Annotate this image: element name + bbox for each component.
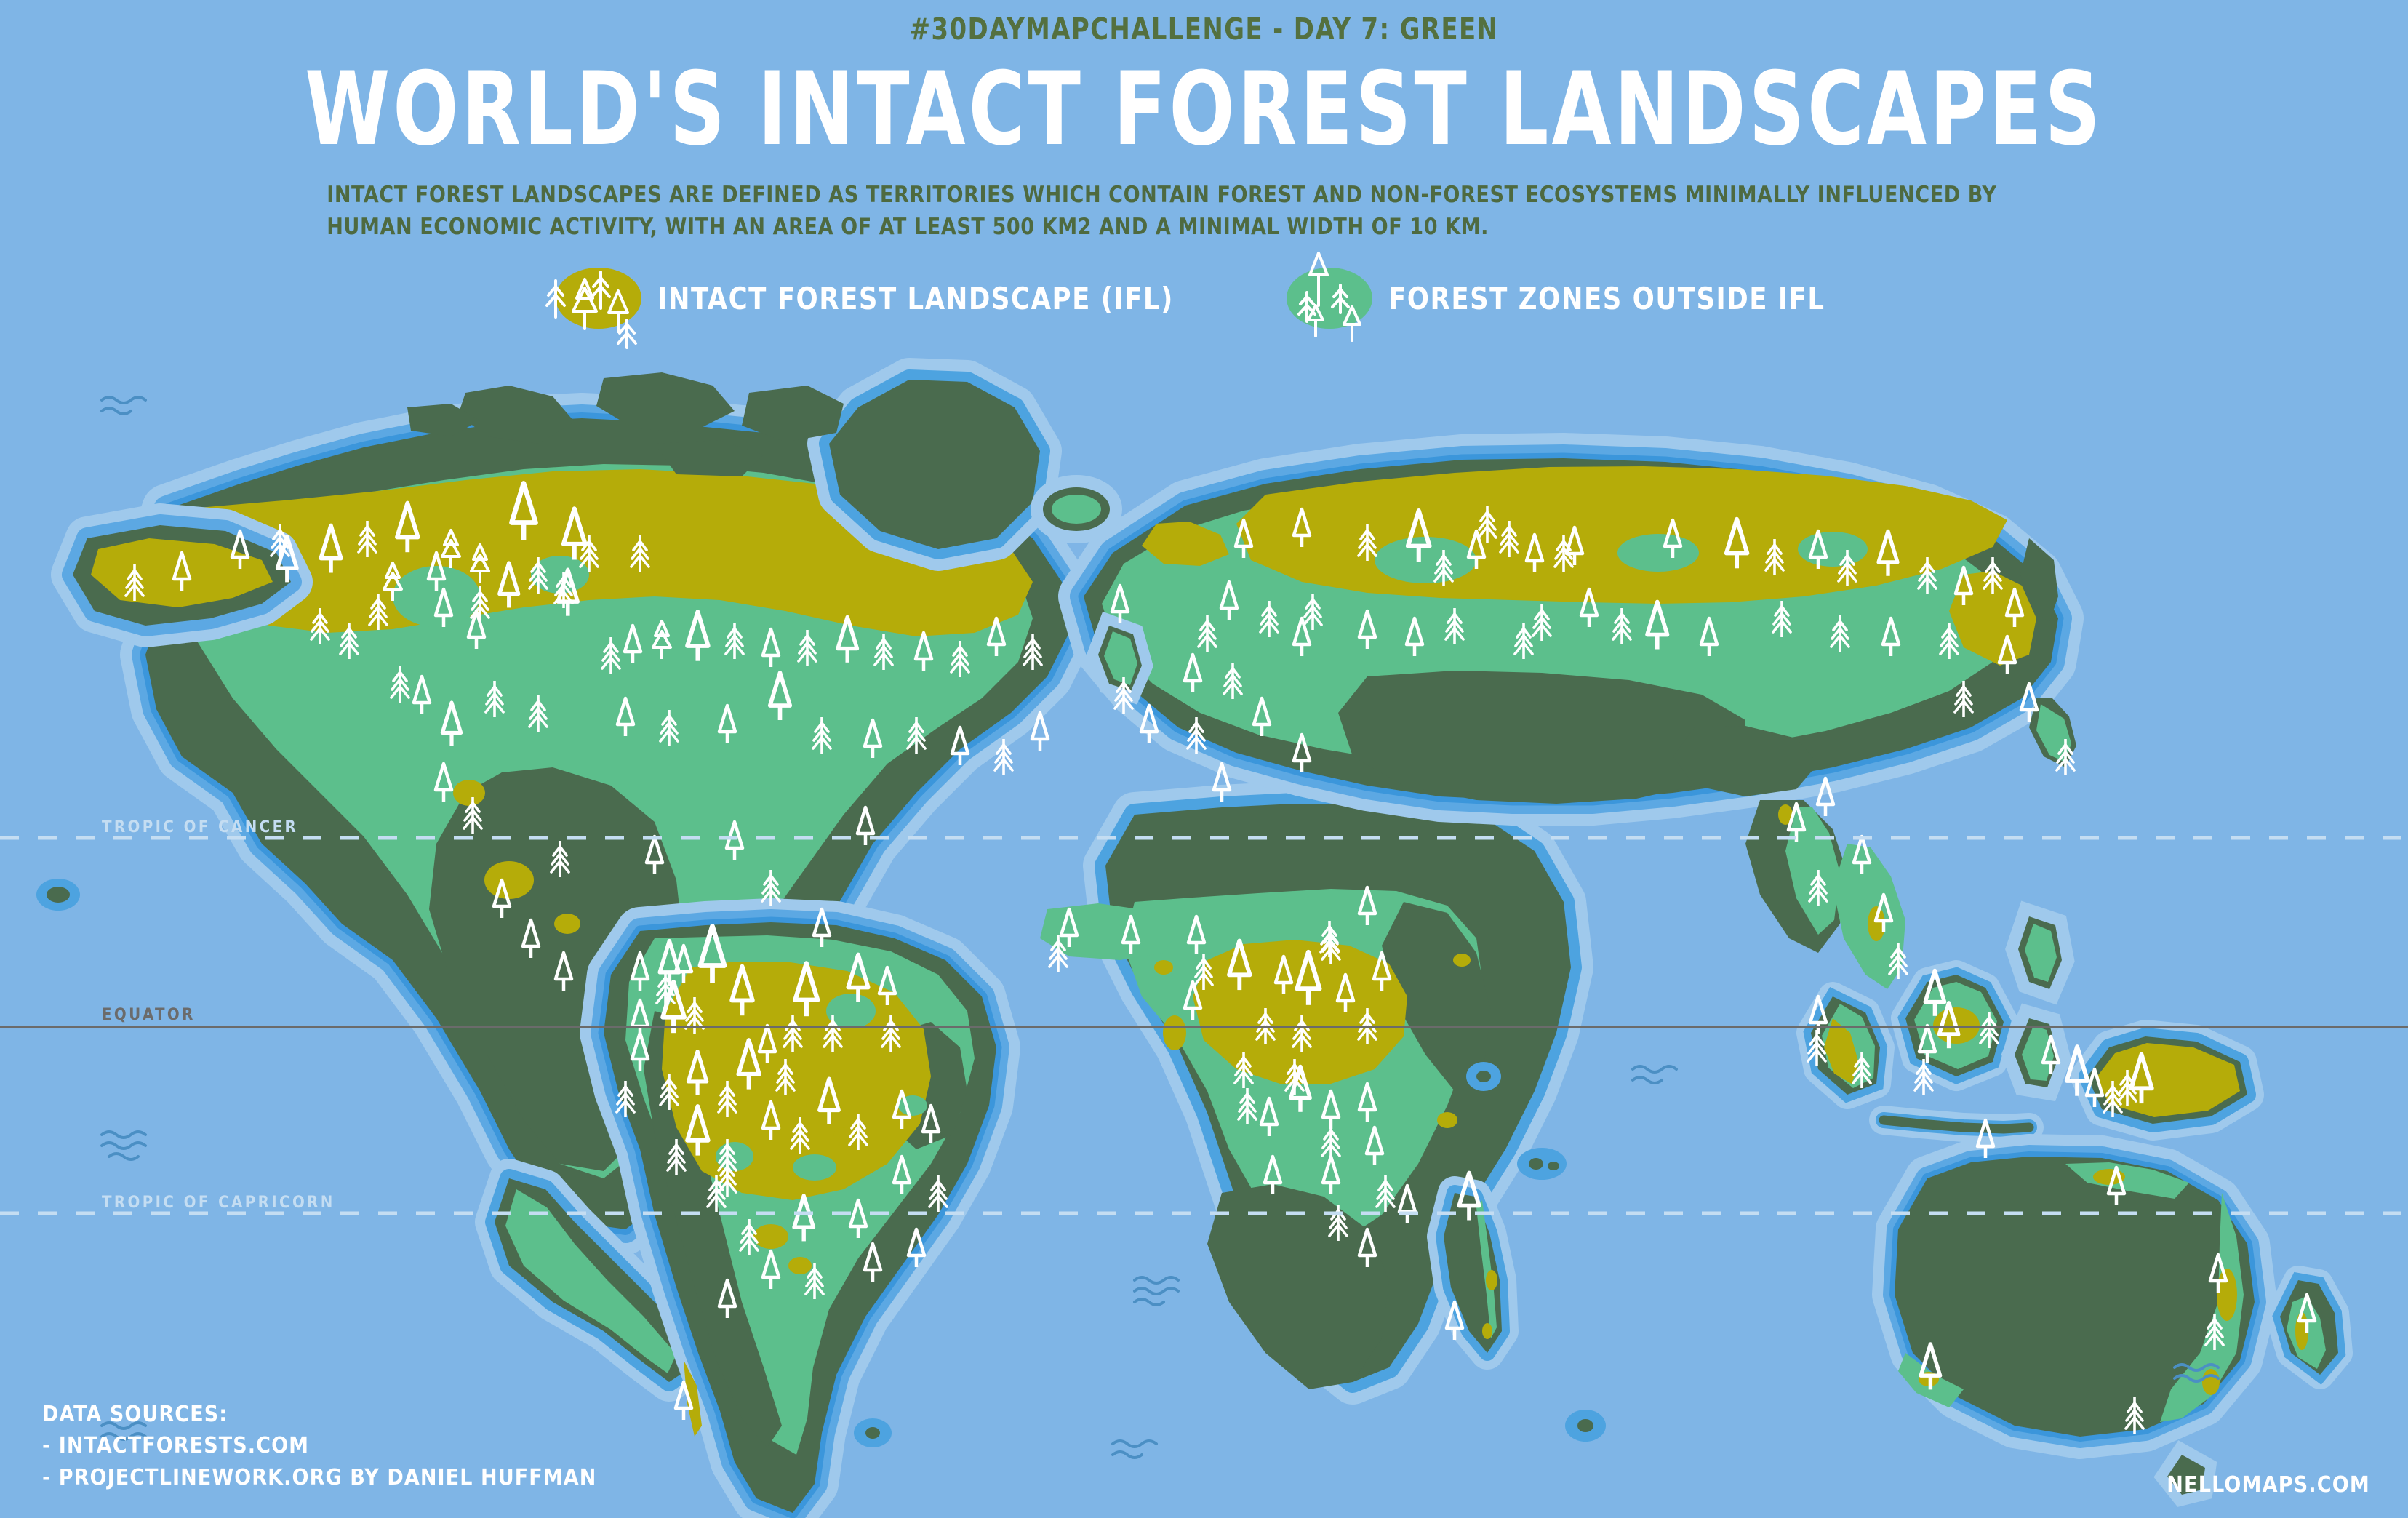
tropic-of-capricorn-label: TROPIC OF CAPRICORN xyxy=(102,1194,335,1212)
data-sources-heading: DATA SOURCES: xyxy=(42,1399,596,1431)
legend-label-outside-ifl: FOREST ZONES OUTSIDE IFL xyxy=(1388,281,1825,316)
tropic-of-cancer-label: TROPIC OF CANCER xyxy=(102,818,298,836)
legend-item-outside-ifl: FOREST ZONES OUTSIDE IFL xyxy=(1287,268,1853,329)
equator-label: EQUATOR xyxy=(102,1006,196,1024)
map-header: #30DAYMAPCHALLENGE - DAY 7: GREEN WORLD'… xyxy=(0,0,2408,329)
challenge-tag: #30DAYMAPCHALLENGE - DAY 7: GREEN xyxy=(96,12,2311,47)
data-source-item: - PROJECTLINEWORK.ORG BY DANIEL HUFFMAN xyxy=(42,1462,596,1494)
map-description: INTACT FOREST LANDSCAPES ARE DEFINED AS … xyxy=(284,179,2069,243)
tree-cluster-icon xyxy=(1271,250,1391,348)
legend-label-ifl: INTACT FOREST LANDSCAPE (IFL) xyxy=(657,281,1174,316)
region-alaska xyxy=(73,525,291,626)
data-sources: DATA SOURCES: - INTACTFORESTS.COM - PROJ… xyxy=(42,1399,596,1494)
region-new-zealand xyxy=(2280,1280,2338,1375)
tree-cluster-icon xyxy=(540,250,660,348)
map-credit: NELLOMAPS.COM xyxy=(2167,1472,2370,1498)
map-legend: INTACT FOREST LANDSCAPE (IFL) FOREST ZON… xyxy=(0,268,2408,329)
legend-swatch-outside-ifl xyxy=(1287,268,1372,329)
legend-item-ifl: INTACT FOREST LANDSCAPE (IFL) xyxy=(556,268,1207,329)
legend-swatch-ifl xyxy=(556,268,641,329)
data-source-item: - INTACTFORESTS.COM xyxy=(42,1430,596,1462)
page-title: WORLD'S INTACT FOREST LANDSCAPES xyxy=(0,58,2408,159)
region-greenland xyxy=(829,380,1040,549)
